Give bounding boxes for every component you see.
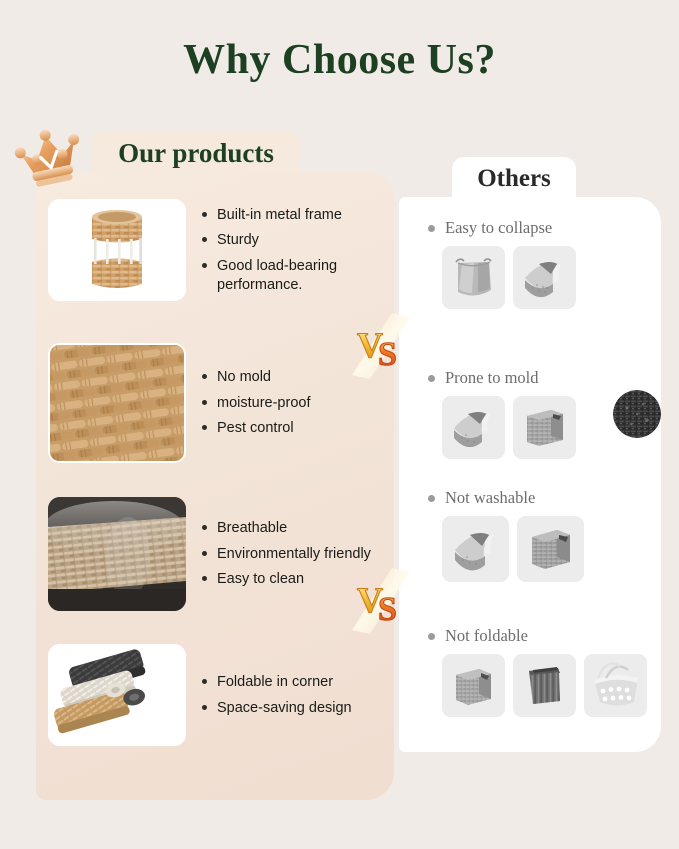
woven-rattan-texture-photo xyxy=(48,343,186,463)
our-products-row: Breathable Environmentally friendly Easy… xyxy=(48,497,378,611)
sagging-fabric-hamper-photo xyxy=(442,246,505,309)
our-products-row: Built-in metal frame Sturdy Good load-be… xyxy=(48,199,378,301)
others-group-label: Not washable xyxy=(421,488,659,508)
folded-flat-baskets-photo xyxy=(48,644,186,746)
breathable-weave-steam-photo xyxy=(48,497,186,611)
list-item: Foldable in corner xyxy=(200,673,378,692)
others-group-label: Prone to mold xyxy=(421,368,659,388)
our-products-bullets: Built-in metal frame Sturdy Good load-be… xyxy=(200,206,378,294)
our-products-bullets: Foldable in corner Space-saving design xyxy=(200,673,378,717)
page-title: Why Choose Us? xyxy=(0,36,679,84)
woven-basket-metal-frame-photo xyxy=(48,199,186,301)
others-group-label: Easy to collapse xyxy=(421,218,659,238)
others-group: Easy to collapse xyxy=(421,218,659,309)
list-item: Space-saving design xyxy=(200,699,378,718)
others-image-strip xyxy=(421,516,659,582)
others-group: Not washable xyxy=(421,488,659,582)
crown-icon xyxy=(8,118,90,196)
others-group-label: Not foldable xyxy=(421,626,659,646)
our-products-row: No mold moisture-proof Pest control xyxy=(48,343,378,463)
svg-text:S: S xyxy=(378,336,397,373)
woven-hamper-photo xyxy=(442,654,505,717)
list-item: Pest control xyxy=(200,419,378,438)
others-image-strip xyxy=(421,396,659,459)
collapsing-basket-photo xyxy=(513,246,576,309)
square-hamper-photo xyxy=(517,516,584,582)
mold-closeup-photo xyxy=(613,390,661,438)
svg-text:S: S xyxy=(378,591,397,628)
others-group: Not foldable xyxy=(421,626,659,717)
list-item: Breathable xyxy=(200,519,378,538)
collapsing-basket-photo xyxy=(442,516,509,582)
plastic-laundry-basket-photo xyxy=(584,654,647,717)
tall-rattan-hamper-photo xyxy=(513,654,576,717)
our-products-row: Foldable in corner Space-saving design xyxy=(48,644,378,746)
square-hamper-photo xyxy=(513,396,576,459)
vs-badge-top: V S xyxy=(352,313,410,379)
others-image-strip xyxy=(421,654,659,717)
collapsing-basket-photo xyxy=(442,396,505,459)
others-group: Prone to mold xyxy=(421,368,659,459)
others-tab-label: Others xyxy=(452,158,576,200)
list-item: Built-in metal frame xyxy=(200,206,378,225)
list-item: Environmentally friendly xyxy=(200,545,378,564)
list-item: Good load-bearing performance. xyxy=(200,257,378,294)
list-item: Sturdy xyxy=(200,231,378,250)
others-image-strip xyxy=(421,246,659,309)
vs-badge-bottom: V S xyxy=(352,568,410,634)
list-item: moisture-proof xyxy=(200,394,378,413)
our-products-tab-label: Our products xyxy=(92,134,300,174)
